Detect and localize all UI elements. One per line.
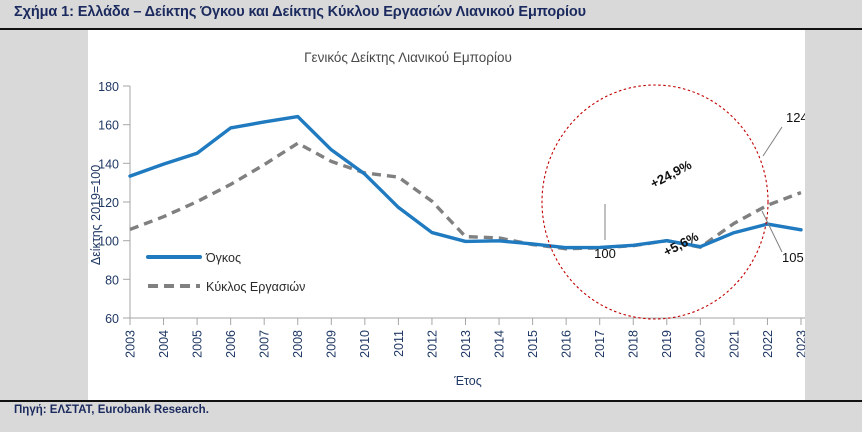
annotation-growth-turnover: +24,9% (648, 157, 695, 191)
annotation-value-105-6: 105.6 (782, 250, 805, 265)
x-tick-label: 2011 (392, 330, 406, 357)
chart-legend: Όγκος Κύκλος Εργασιών (148, 251, 305, 294)
x-tick-label: 2013 (459, 330, 473, 358)
x-axis-tick-labels: 2003200420052006200720082009201020112012… (123, 330, 805, 358)
x-tick-label: 2021 (727, 330, 741, 358)
y-axis-ticks: 180 160 140 120 100 80 60 (98, 80, 130, 326)
y-tick-label: 60 (105, 312, 119, 326)
source-note: Πηγή: ΕΛΣΤΑΤ, Eurobank Research. (14, 404, 209, 416)
x-tick-label: 2003 (123, 330, 137, 358)
x-tick-label: 2004 (157, 330, 171, 358)
x-tick-label: 2017 (593, 330, 607, 358)
x-tick-label: 2006 (224, 330, 238, 358)
y-tick-label: 140 (98, 157, 119, 171)
x-tick-label: 2005 (191, 330, 205, 358)
highlight-ellipse (542, 85, 768, 319)
y-tick-label: 80 (105, 273, 119, 287)
x-tick-label: 2008 (291, 330, 305, 358)
x-tick-label: 2009 (325, 330, 339, 358)
x-tick-label: 2016 (560, 330, 574, 358)
leader-line-124-9 (763, 127, 782, 156)
series-line-turnover (130, 143, 801, 249)
x-tick-label: 2007 (258, 330, 272, 358)
page-title: Σχήμα 1: Ελλάδα – Δείκτης Όγκου και Δείκ… (14, 4, 586, 20)
leader-line-105-6 (762, 211, 782, 252)
y-tick-label: 160 (98, 119, 119, 133)
x-tick-label: 2012 (425, 330, 439, 358)
retail-index-line-chart: Γενικός Δείκτης Λιανικού Εμπορίου Δείκτη… (88, 30, 805, 400)
legend-label-turnover: Κύκλος Εργασιών (206, 280, 305, 294)
chart-title: Γενικός Δείκτης Λιανικού Εμπορίου (304, 50, 512, 65)
x-tick-label: 2019 (660, 330, 674, 358)
x-axis-label: Έτος (453, 374, 482, 388)
annotation-growth-volume: +5,6% (661, 228, 701, 259)
figure-container: Σχήμα 1: Ελλάδα – Δείκτης Όγκου και Δείκ… (0, 0, 862, 432)
series-line-volume (130, 117, 801, 248)
x-tick-label: 2023 (794, 330, 805, 358)
y-tick-label: 180 (98, 80, 119, 94)
x-tick-label: 2014 (492, 330, 506, 358)
y-axis-label: Δείκτης 2019=100 (89, 165, 103, 265)
y-tick-label: 120 (98, 196, 119, 210)
x-tick-label: 2015 (526, 330, 540, 358)
x-axis-ticks (130, 318, 801, 325)
legend-label-volume: Όγκος (205, 251, 241, 265)
x-tick-label: 2010 (358, 330, 372, 358)
annotation-value-124-9: 124.9 (786, 110, 805, 125)
chart-card: Γενικός Δείκτης Λιανικού Εμπορίου Δείκτη… (88, 30, 805, 400)
x-tick-label: 2018 (627, 330, 641, 358)
annotation-value-100: 100 (594, 246, 616, 261)
x-tick-label: 2022 (761, 330, 775, 358)
x-tick-label: 2020 (694, 330, 708, 358)
y-tick-label: 100 (98, 235, 119, 249)
